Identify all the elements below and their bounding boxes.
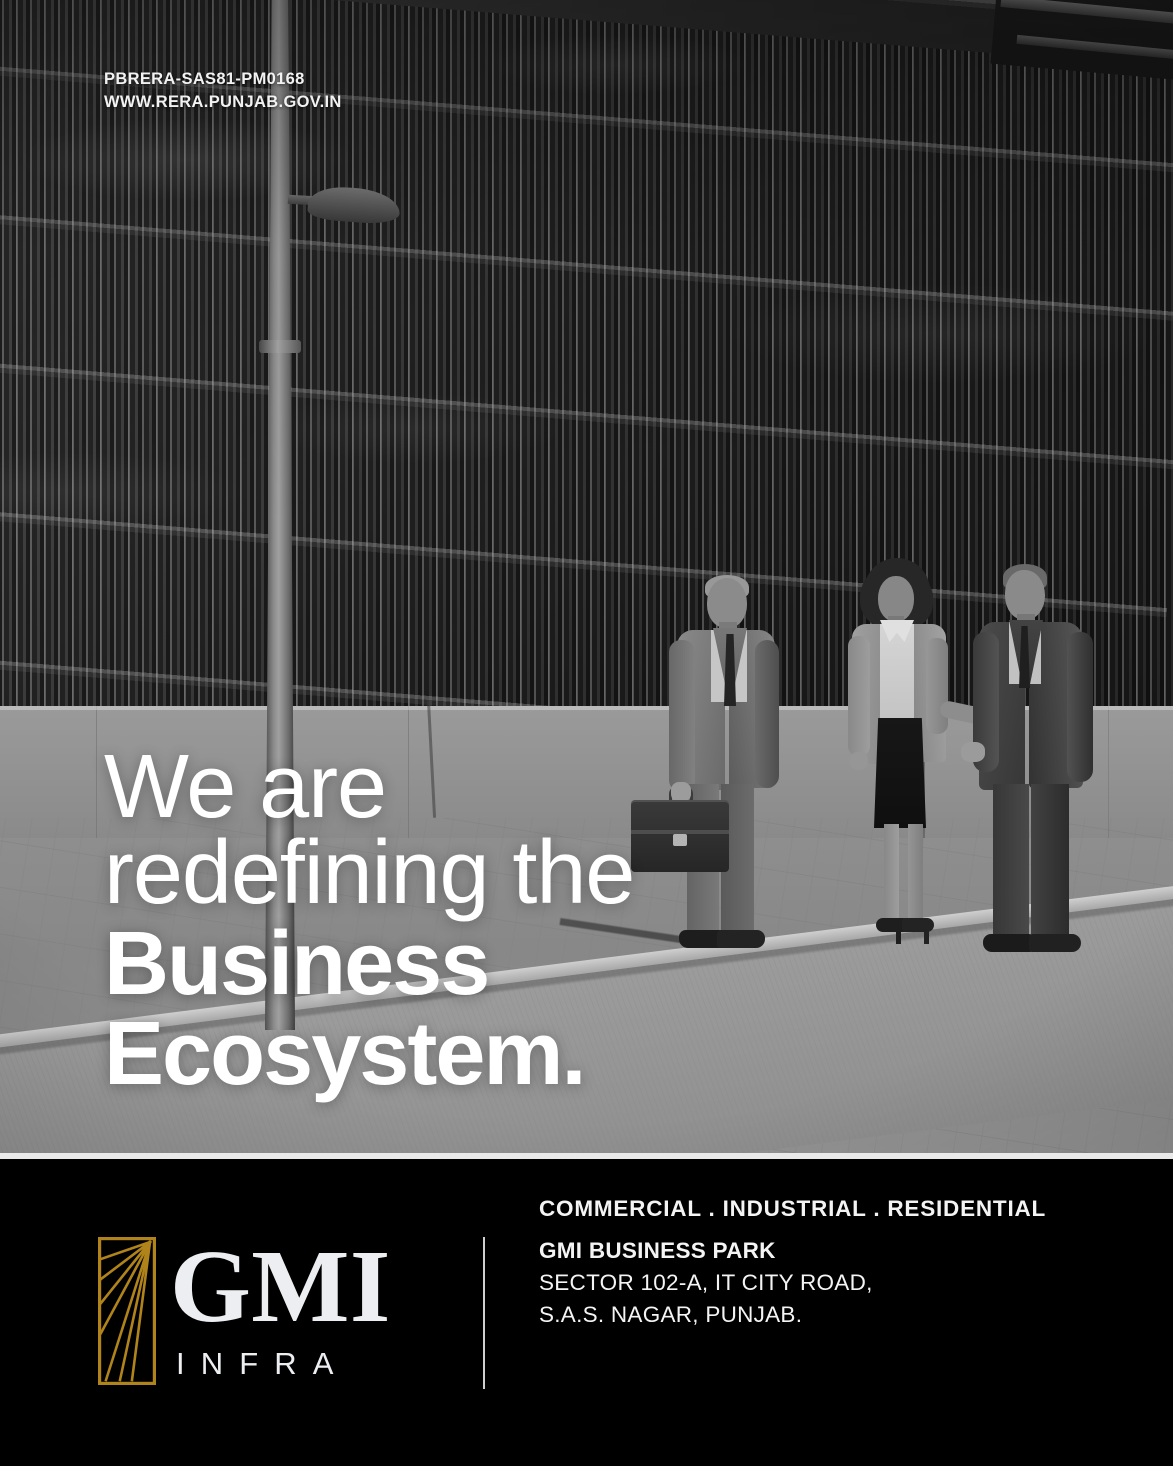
heel-left [896, 928, 901, 944]
gmi-infra-logo[interactable]: GMI INFRA [98, 1237, 448, 1397]
logo-wordmark: GMI [170, 1235, 391, 1339]
rera-website: WWW.RERA.PUNJAB.GOV.IN [104, 91, 342, 114]
headline-line-4: Ecosystem. [104, 1011, 634, 1097]
head [707, 578, 747, 628]
shoe-right [717, 930, 765, 948]
blouse [880, 624, 914, 722]
briefcase-lock [673, 834, 687, 846]
project-info-block: GMI BUSINESS PARK SECTOR 102-A, IT CITY … [539, 1235, 1139, 1331]
person-businessman-with-briefcase [655, 578, 785, 960]
leg-right [908, 824, 923, 922]
hand-left-extended [961, 742, 985, 762]
pencil-skirt [874, 718, 926, 828]
rera-registration-block: PBRERA-SAS81-PM0168 WWW.RERA.PUNJAB.GOV.… [104, 68, 342, 115]
sunburst-logo-icon [98, 1237, 156, 1385]
trouser-left [993, 784, 1029, 938]
footer-vertical-divider [483, 1237, 485, 1389]
advertisement-poster: PBRERA-SAS81-PM0168 WWW.RERA.PUNJAB.GOV.… [0, 0, 1173, 1466]
logo-subtitle: INFRA [176, 1346, 350, 1382]
headline-line-3: Business [104, 921, 634, 1007]
leg-left [884, 824, 899, 922]
person-businessman-dark-suit [975, 566, 1105, 962]
shoe-right [1029, 934, 1081, 952]
hand-left [850, 752, 868, 770]
address-line-2: S.A.S. NAGAR, PUNJAB. [539, 1299, 1139, 1331]
head [1005, 570, 1045, 620]
arm-right [755, 640, 779, 788]
person-businesswoman [840, 562, 960, 962]
arm-left [848, 636, 870, 756]
shoe-left [983, 934, 1033, 952]
sector-tagline: COMMERCIAL . INDUSTRIAL . RESIDENTIAL [539, 1196, 1046, 1222]
address-line-1: SECTOR 102-A, IT CITY ROAD, [539, 1267, 1139, 1299]
rera-registration-number: PBRERA-SAS81-PM0168 [104, 68, 342, 91]
heel-right [924, 928, 929, 944]
street-lamp-collar [259, 340, 301, 353]
headline-block: We are redefining the Business Ecosystem… [104, 744, 634, 1098]
headline-line-2: redefining the [104, 830, 634, 916]
trouser-right [1031, 784, 1069, 938]
arm-right [926, 638, 948, 734]
headline-line-1: We are [104, 744, 634, 830]
shoe-right [902, 918, 934, 932]
arm-left [669, 640, 695, 792]
arm-right [1067, 632, 1093, 782]
project-name: GMI BUSINESS PARK [539, 1235, 1139, 1267]
hand-left [671, 782, 691, 802]
